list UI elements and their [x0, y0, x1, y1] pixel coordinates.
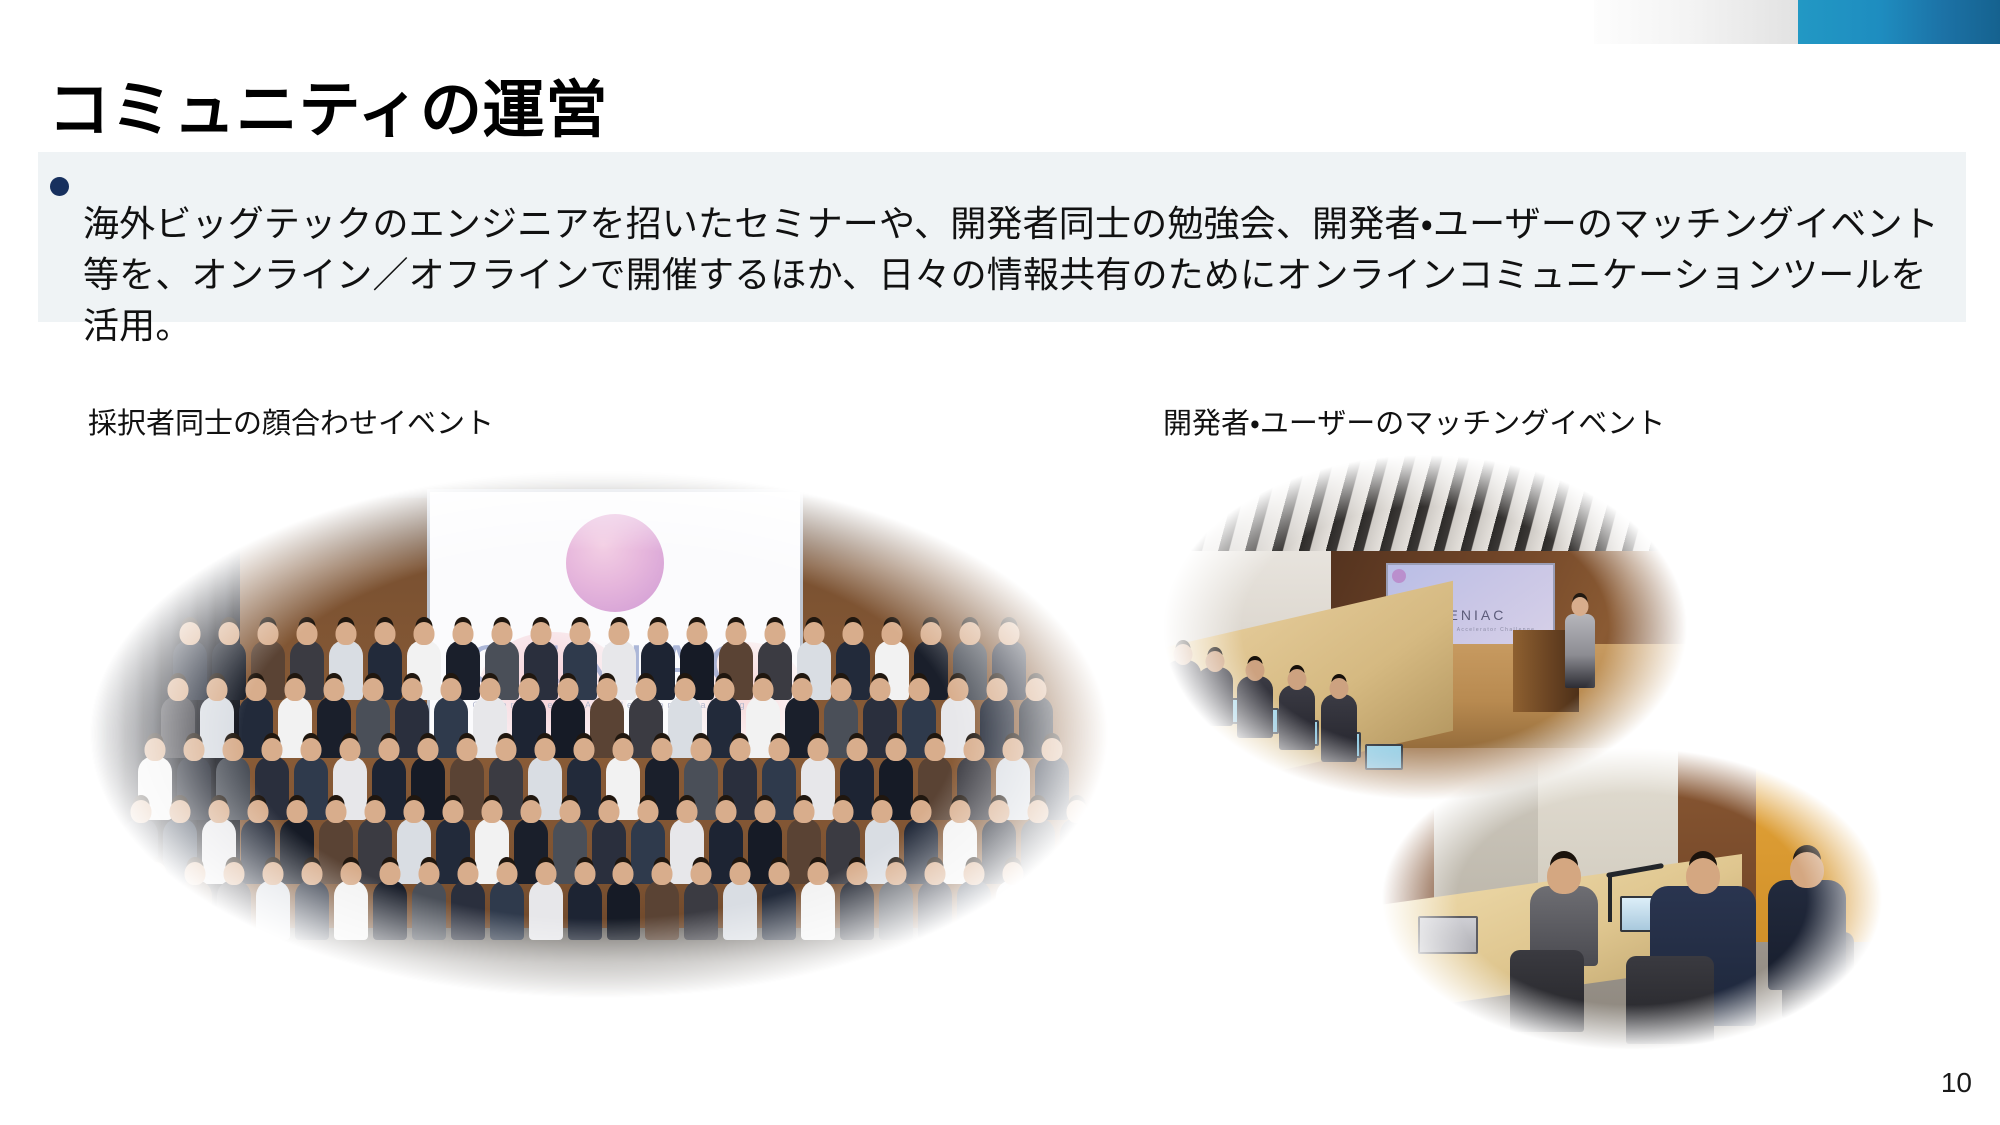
- summary-bullet-row: 海外ビッグテックのエンジニアを招いたセミナーや、開発者同士の勉強会、開発者・ユー…: [50, 162, 1956, 387]
- group-photo-crowd: [90, 640, 1108, 940]
- seminar-ceiling: [1163, 455, 1687, 551]
- bullet-dot-icon: [50, 177, 69, 196]
- group-photo-person: [918, 880, 952, 940]
- page-number: 10: [1941, 1067, 1972, 1099]
- seminar-audience-person: [1279, 685, 1315, 750]
- group-photo-person: [645, 880, 679, 940]
- header-accent-bar: [1594, 0, 2000, 44]
- group-photo-crowd-row: [106, 696, 1108, 758]
- group-photo-person: [957, 880, 991, 940]
- group-photo-person: [762, 880, 796, 940]
- group-photo-person: [490, 880, 524, 940]
- group-photo-person: [879, 880, 913, 940]
- group-photo-person: [139, 880, 173, 940]
- seminar-audience-person: [1321, 694, 1357, 762]
- group-photo-person: [334, 880, 368, 940]
- group-photo-crowd-row: [110, 818, 1108, 884]
- summary-text: 海外ビッグテックのエンジニアを招いたセミナーや、開発者同士の勉強会、開発者・ユー…: [83, 198, 1956, 351]
- accent-bar-blue-segment: [1798, 0, 2000, 44]
- group-photo: GENIAC Generative AI Accelerator Challen…: [90, 470, 1108, 998]
- geniac-orb-icon: [566, 514, 664, 612]
- group-photo-person: [373, 880, 407, 940]
- seminar-audience-person: [1197, 667, 1233, 726]
- group-photo-person: [996, 880, 1030, 940]
- group-photo-crowd-row: [100, 880, 1108, 940]
- group-photo-person: [529, 880, 563, 940]
- group-photo-person: [217, 880, 251, 940]
- group-photo-person: [256, 880, 290, 940]
- caption-seminar-photo: 開発者・ユーザーのマッチングイベント: [1163, 400, 1665, 442]
- meeting-person: [1768, 880, 1846, 990]
- accent-bar-gray-segment: [1594, 0, 1798, 44]
- group-photo-person: [1035, 880, 1069, 940]
- group-photo-person: [684, 880, 718, 940]
- meeting-chair: [1626, 956, 1714, 1044]
- caption-group-photo: 採択者同士の顔合わせイベント: [88, 400, 494, 442]
- seminar-screen-orb-icon: [1392, 569, 1406, 583]
- summary-band: 海外ビッグテックのエンジニアを招いたセミナーや、開発者同士の勉強会、開発者・ユー…: [38, 152, 1966, 322]
- meeting-photo: [1382, 748, 1882, 1050]
- page-title: コミュニティの運営: [48, 78, 608, 143]
- meeting-mic-arm: [1608, 874, 1612, 922]
- seminar-audience-person: [1165, 660, 1201, 716]
- meeting-photo-content: [1382, 748, 1882, 1050]
- group-photo-person: [723, 880, 757, 940]
- meeting-chair: [1510, 950, 1584, 1032]
- group-photo-person: [100, 880, 134, 940]
- group-photo-person: [840, 880, 874, 940]
- group-photo-person: [451, 880, 485, 940]
- group-photo-person: [801, 880, 835, 940]
- seminar-audience-person: [1237, 676, 1273, 738]
- group-photo-person: [178, 880, 212, 940]
- group-photo-content: GENIAC Generative AI Accelerator Challen…: [90, 470, 1108, 998]
- group-photo-person: [1074, 880, 1108, 940]
- seminar-speaker-person: [1565, 614, 1595, 688]
- group-photo-person: [568, 880, 602, 940]
- meeting-laptop: [1418, 916, 1478, 954]
- group-photo-person: [412, 880, 446, 940]
- group-photo-person: [607, 880, 641, 940]
- group-photo-person: [295, 880, 329, 940]
